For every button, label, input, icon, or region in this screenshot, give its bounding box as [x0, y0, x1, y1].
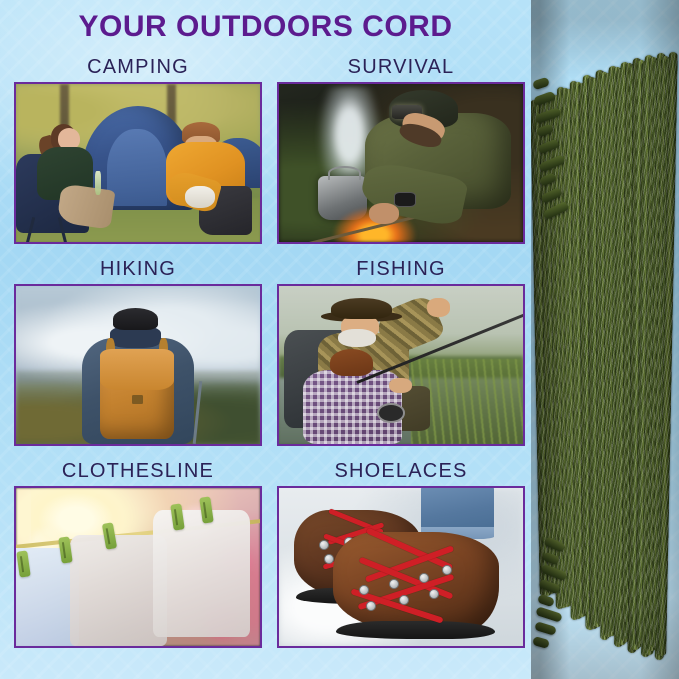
product-infographic: YOUR OUTDOORS CORD CAMPING: [0, 0, 679, 679]
paracord-loop: [535, 606, 563, 623]
paracord-bundle: [531, 0, 679, 679]
use-case-photo-camping: [14, 82, 262, 244]
use-case-photo-shoelaces: [277, 486, 525, 648]
product-photo-paracord: [531, 0, 679, 679]
page-title: YOUR OUTDOORS CORD: [0, 10, 531, 44]
use-case-label-hiking: HIKING: [14, 258, 262, 281]
paracord-loop: [532, 636, 550, 649]
use-case-photo-clothesline: [14, 486, 262, 648]
use-case-label-camping: CAMPING: [14, 56, 262, 79]
paracord-loop: [534, 621, 557, 636]
use-case-label-clothesline: CLOTHESLINE: [14, 460, 262, 483]
paracord-loop: [537, 594, 555, 608]
use-case-label-survival: SURVIVAL: [277, 56, 525, 79]
paracord-loop: [532, 77, 550, 91]
use-case-photo-fishing: [277, 284, 525, 446]
use-case-photo-hiking: [14, 284, 262, 446]
use-case-label-shoelaces: SHOELACES: [277, 460, 525, 483]
use-case-photo-survival: [277, 82, 525, 244]
use-case-label-fishing: FISHING: [277, 258, 525, 281]
